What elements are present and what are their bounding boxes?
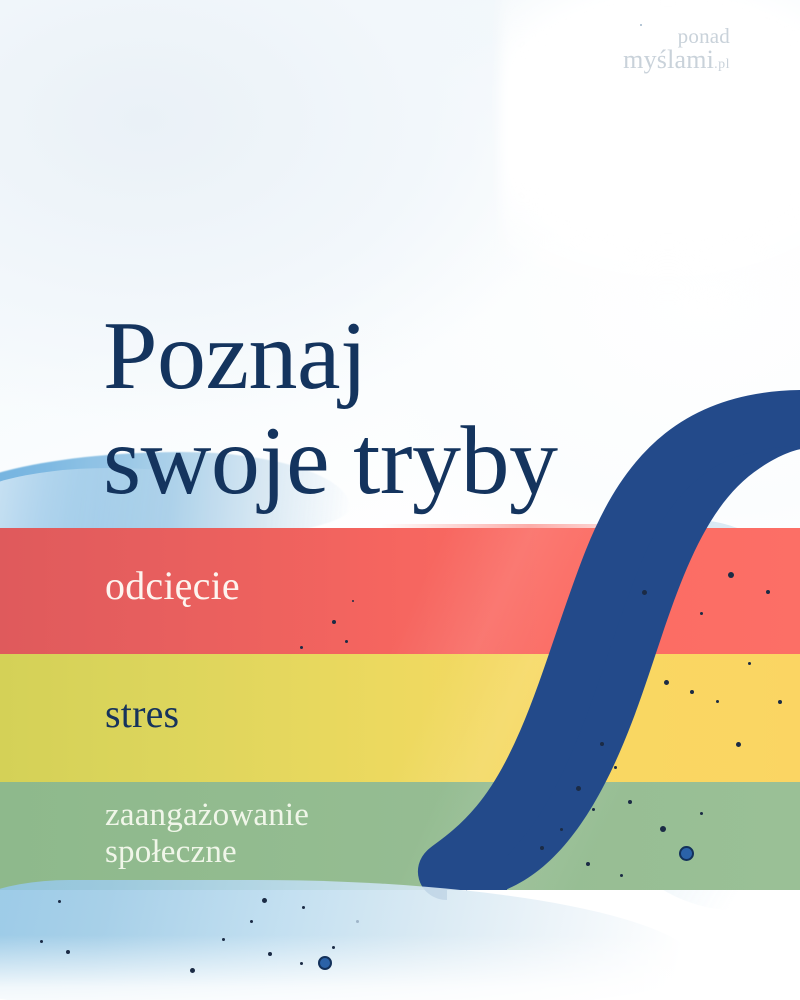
watercolor-wash-bottom-fade (0, 935, 700, 1000)
band-label-stres: stres (105, 692, 179, 737)
band-label-zaangazowanie-line2: społeczne (105, 834, 309, 871)
band-label-zaangazowanie: zaangażowanie społeczne (105, 797, 309, 871)
band-label-zaangazowanie-line1: zaangażowanie (105, 797, 309, 834)
poster-canvas: ponad myślami.pl Poznaj swoje tryby odci… (0, 0, 800, 1000)
band-label-odciecie: odcięcie (105, 564, 240, 609)
